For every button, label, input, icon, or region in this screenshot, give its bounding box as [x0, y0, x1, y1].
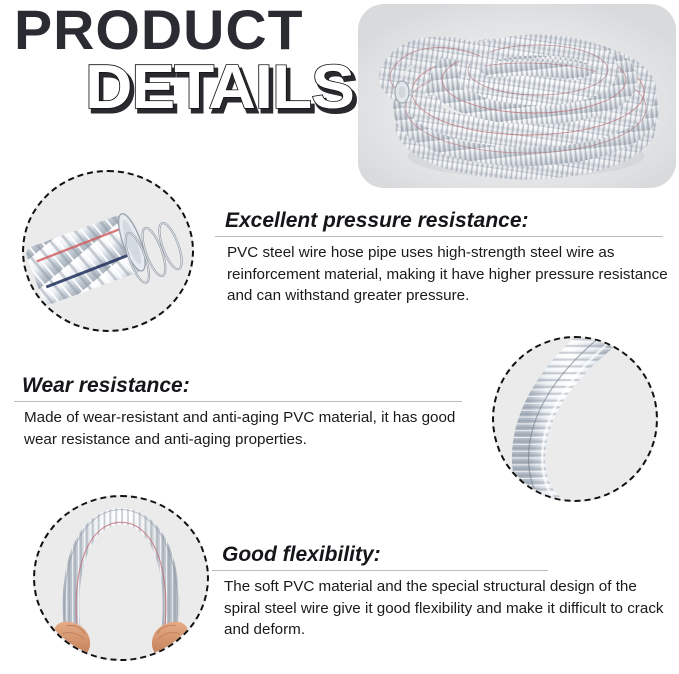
page-title-details: DETAILS DETAILS — [85, 57, 355, 127]
detail-photo-pressure-resistance — [22, 170, 194, 332]
section-heading-pressure-resistance: Excellent pressure resistance: — [225, 209, 673, 233]
hose-cutaway-illustration — [24, 172, 192, 330]
section-divider — [14, 401, 462, 402]
section-body-good-flexibility: The soft PVC material and the special st… — [222, 576, 672, 641]
section-wear-resistance: Wear resistance: Made of wear-resistant … — [22, 374, 470, 450]
section-heading-wear-resistance: Wear resistance: — [22, 374, 470, 398]
curved-hose-illustration — [494, 338, 656, 500]
coiled-hose-illustration — [358, 4, 676, 188]
page-title-product: PRODUCT — [14, 2, 304, 58]
section-pressure-resistance: Excellent pressure resistance: PVC steel… — [225, 209, 673, 307]
hero-product-image — [358, 4, 676, 188]
hands-bending-hose-illustration — [35, 497, 207, 659]
section-divider — [215, 236, 663, 237]
section-body-wear-resistance: Made of wear-resistant and anti-aging PV… — [22, 407, 470, 450]
section-good-flexibility: Good flexibility: The soft PVC material … — [222, 543, 672, 641]
page-title-details-face: DETAILS — [85, 57, 354, 119]
right-hand — [152, 622, 188, 659]
section-heading-good-flexibility: Good flexibility: — [222, 543, 672, 567]
detail-photo-wear-resistance — [492, 336, 658, 502]
left-hand — [54, 622, 90, 659]
detail-photo-good-flexibility — [33, 495, 209, 661]
section-body-pressure-resistance: PVC steel wire hose pipe uses high-stren… — [225, 242, 673, 307]
title-block: PRODUCT DETAILS DETAILS — [0, 0, 360, 150]
section-divider — [212, 570, 548, 571]
